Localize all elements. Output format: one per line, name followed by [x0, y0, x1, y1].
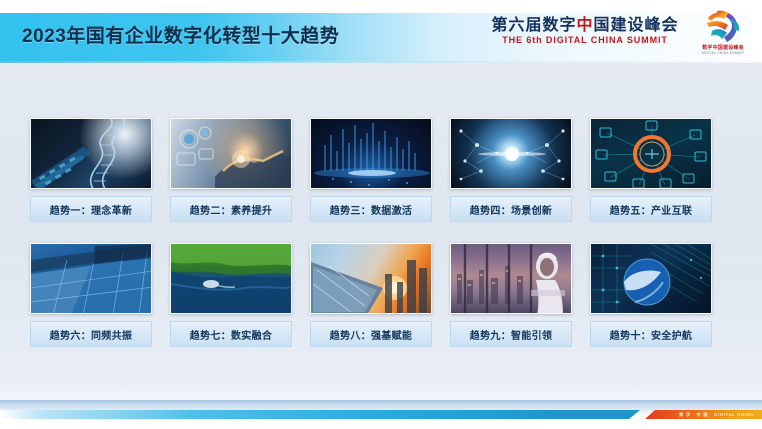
trend-card-grid: 趋势一：理念革新 — [30, 118, 732, 347]
trend-card[interactable]: 趋势六：同频共振 — [30, 243, 152, 347]
trend-thumbnail — [450, 118, 572, 189]
art-robot-hand-control — [171, 119, 291, 188]
trend-caption: 趋势十：安全护航 — [590, 321, 712, 347]
logo-caption-en: DIGITAL CHINA SUMMIT — [692, 51, 754, 55]
trend-card[interactable]: 趋势三：数据激活 — [310, 118, 432, 222]
art-forest-river-green — [171, 244, 291, 313]
trend-thumbnail — [310, 118, 432, 189]
summit-title-en: THE 6th DIGITAL CHINA SUMMIT — [485, 36, 685, 45]
summit-title-cn-accent: 中 — [576, 15, 593, 34]
header-underline — [0, 61, 762, 63]
summit-logo: 数字中国建设峰会 DIGITAL CHINA SUMMIT — [692, 10, 754, 56]
art-network-burst-light — [451, 119, 571, 188]
trend-card[interactable]: 趋势二：素养提升 — [170, 118, 292, 222]
page-title: 2023年国有企业数字化转型十大趋势 — [22, 21, 339, 48]
art-industrial-iot-ring — [591, 119, 711, 188]
trend-card[interactable]: 趋势四：场景创新 — [450, 118, 572, 222]
trend-caption: 趋势七：数实融合 — [170, 321, 292, 347]
trend-card[interactable]: 趋势五：产业互联 — [590, 118, 712, 222]
trend-card[interactable]: 趋势八：强基赋能 — [310, 243, 432, 347]
trend-card[interactable]: 趋势九：智能引领 — [450, 243, 572, 347]
summit-title-cn-part1: 第六届数字 — [491, 15, 576, 34]
trend-caption: 趋势三：数据激活 — [310, 196, 432, 222]
logo-caption: 数字中国建设峰会 DIGITAL CHINA SUMMIT — [692, 45, 754, 55]
trend-caption: 趋势八：强基赋能 — [310, 321, 432, 347]
trend-thumbnail — [30, 118, 152, 189]
trend-card[interactable]: 趋势十：安全护航 — [590, 243, 712, 347]
art-keyboard-dna-blue — [31, 119, 151, 188]
slide-canvas: 2023年国有企业数字化转型十大趋势 第六届数字中国建设峰会 THE 6th D… — [0, 0, 762, 429]
trend-card[interactable]: 趋势七：数实融合 — [170, 243, 292, 347]
footer-text: 数 字 · 中 国 · DIGITAL CHINA — [679, 411, 754, 418]
trend-caption: 趋势二：素养提升 — [170, 196, 292, 222]
trend-caption: 趋势四：场景创新 — [450, 196, 572, 222]
summit-branding: 第六届数字中国建设峰会 THE 6th DIGITAL CHINA SUMMIT — [485, 17, 685, 45]
trend-row-1: 趋势一：理念革新 — [30, 118, 732, 222]
summit-title-cn: 第六届数字中国建设峰会 — [485, 17, 685, 33]
art-solar-panels — [31, 244, 151, 313]
trend-card[interactable]: 趋势一：理念革新 — [30, 118, 152, 222]
trend-thumbnail — [30, 243, 152, 314]
art-cyber-globe-shield — [591, 244, 711, 313]
trend-caption: 趋势九：智能引领 — [450, 321, 572, 347]
trend-thumbnail — [450, 243, 572, 314]
trend-thumbnail — [310, 243, 432, 314]
trend-thumbnail — [170, 118, 292, 189]
art-solar-sunset-city — [311, 244, 431, 313]
trend-caption: 趋势五：产业互联 — [590, 196, 712, 222]
footer-ribbon-blue — [0, 410, 640, 419]
slide-footer: 数 字 · 中 国 · DIGITAL CHINA — [0, 400, 762, 429]
trend-row-2: 趋势六：同频共振 趋势七：数实融合 — [30, 243, 732, 347]
art-data-waveform-blue — [311, 119, 431, 188]
trend-thumbnail — [590, 243, 712, 314]
trend-thumbnail — [590, 118, 712, 189]
summit-title-cn-part2: 国建设峰会 — [594, 15, 679, 34]
digital-china-logo-icon — [692, 10, 754, 44]
trend-caption: 趋势一：理念革新 — [30, 196, 152, 222]
art-robot-city-window — [451, 244, 571, 313]
trend-caption: 趋势六：同频共振 — [30, 321, 152, 347]
trend-thumbnail — [170, 243, 292, 314]
